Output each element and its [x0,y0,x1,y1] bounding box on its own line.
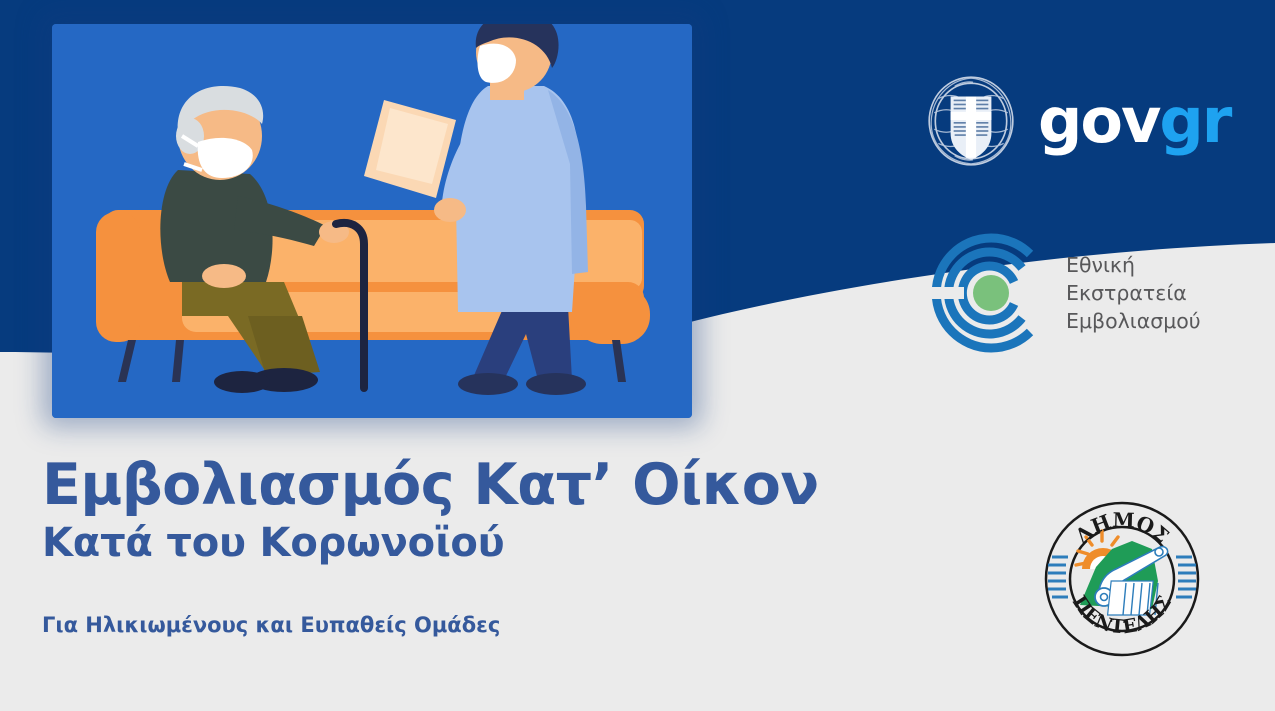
page-subtitle: Κατά του Κορωνοϊού [42,521,862,566]
campaign-logo-text: Εθνική Εκστρατεία Εμβολιασμού [1066,251,1201,336]
dimos-pentelis-seal: ΔΗΜΟΣ ΠΕΝΤΕΛΗΣ [1040,497,1204,661]
govgr-wordmark: govgr [1038,90,1230,152]
concentric-arcs-icon [930,232,1052,354]
municipality-seal-icon: ΔΗΜΟΣ ΠΕΝΤΕΛΗΣ [1040,497,1204,661]
home-visit-vaccination-illustration [52,24,692,418]
campaign-logo[interactable]: Εθνική Εκστρατεία Εμβολιασμού [930,232,1201,354]
poster-canvas: govgr Εθνική Εκστρατεία Εμβολιασμού Εμβο… [0,0,1275,711]
greek-coat-of-arms-icon [920,70,1022,172]
campaign-line-1: Εθνική [1066,251,1201,279]
page-title: Εμβολιασμός Κατ’ Οίκον [42,455,862,515]
govgr-word-gov: gov [1038,90,1159,152]
govgr-logo[interactable]: govgr [920,70,1230,172]
campaign-line-3: Εμβολιασμού [1066,307,1201,335]
govgr-word-gr: gr [1159,90,1230,152]
campaign-line-2: Εκστρατεία [1066,279,1201,307]
headline-block: Εμβολιασμός Κατ’ Οίκον Κατά του Κορωνοϊο… [42,455,862,638]
illustration-panel [52,24,692,418]
audience-note: Για Ηλικιωμένους και Ευπαθείς Ομάδες [42,613,862,638]
